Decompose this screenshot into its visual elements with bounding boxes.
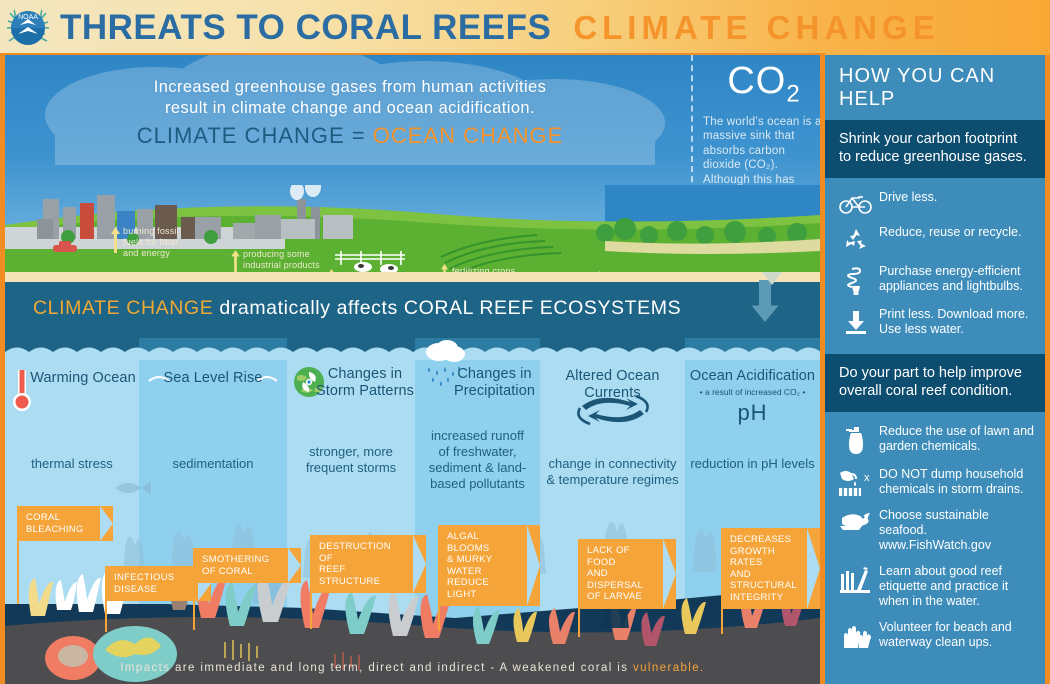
flag-label: ALGAL BLOOMS & MURKY WATER REDUCE LIGHT — [438, 525, 540, 606]
list-item-text: Choose sustainable seafood. www.FishWatc… — [877, 508, 1035, 553]
list-item-text: Drive less. — [877, 190, 937, 205]
ocean-section: Warming Ocean thermal stress Sea Level R… — [5, 338, 820, 684]
column-title-warming-ocean: Warming Ocean — [5, 370, 139, 387]
list-item-text: Reduce the use of lawn and garden chemic… — [877, 424, 1035, 454]
flag-label: CORAL BLEACHING — [17, 506, 113, 541]
flag-notch — [413, 535, 426, 593]
arrow-up-icon — [231, 250, 240, 274]
flag-notch — [807, 528, 820, 609]
ph-symbol: pH — [685, 400, 820, 426]
flag-label: SMOTHERING OF CORAL — [193, 548, 301, 583]
column-title-precipitation: Changes in Precipitation — [415, 366, 540, 400]
flag-smothering-of-coral: SMOTHERING OF CORAL — [193, 548, 301, 583]
noaa-logo: NOAA — [2, 3, 54, 53]
intro-line-2: result in climate change and ocean acidi… — [45, 98, 655, 119]
coral-reef-etiquette-icon — [835, 564, 877, 594]
co2-heading: CO2 — [703, 60, 820, 109]
co2-subscript: 2 — [786, 81, 800, 108]
flag-lack-of-food: LACK OF FOOD AND DISPERSAL OF LARVAE — [578, 539, 676, 609]
page-title: THREATS TO CORAL REEFS — [60, 8, 551, 48]
help-sidebar: HOW YOU CAN HELP Shrink your carbon foot… — [825, 55, 1045, 684]
sand-strip — [5, 272, 820, 282]
flag-pole — [17, 532, 19, 604]
midband-text: CLIMATE CHANGE dramatically affects CORA… — [33, 297, 681, 320]
source-label-0: burning fossil fuels for heat and energy — [123, 226, 179, 259]
list-item-text: Volunteer for beach and waterway clean u… — [877, 620, 1035, 650]
list-item[interactable]: Choose sustainable seafood. www.FishWatc… — [835, 508, 1035, 553]
list-item-text: DO NOT dump household chemicals in storm… — [877, 467, 1035, 497]
bicycle-icon — [835, 190, 877, 214]
flag-algal-blooms: ALGAL BLOOMS & MURKY WATER REDUCE LIGHT — [438, 525, 540, 606]
flag-notch — [100, 506, 113, 541]
flag-decreases-growth-rates: DECREASES GROWTH RATES AND STRUCTURAL IN… — [721, 528, 820, 609]
list-item[interactable]: Drive less. — [835, 190, 1035, 214]
arrow-down-icon — [745, 280, 785, 325]
arrow-up-icon — [111, 227, 120, 253]
no-dump-drain-icon: x — [835, 467, 877, 497]
list-item[interactable]: Reduce the use of lawn and garden chemic… — [835, 424, 1035, 456]
list-item[interactable]: Learn about good reef etiquette and prac… — [835, 564, 1035, 609]
page-header: NOAA THREATS TO CORAL REEFS CLIMATE CHAN… — [0, 0, 1050, 55]
infographic-page: NOAA THREATS TO CORAL REEFS CLIMATE CHAN… — [0, 0, 1050, 684]
list-item[interactable]: x DO NOT dump household chemicals in sto… — [835, 467, 1035, 497]
flag-destruction-of-reef-structure: DESTRUCTION OF REEF STRUCTURE — [310, 535, 426, 593]
midband: CLIMATE CHANGE dramatically affects CORA… — [5, 282, 820, 338]
intro-line-1: Increased greenhouse gases from human ac… — [45, 77, 655, 98]
list-item-text: Purchase energy-efficient appliances and… — [877, 264, 1035, 294]
flag-label: DESTRUCTION OF REEF STRUCTURE — [310, 535, 426, 593]
svg-text:NOAA: NOAA — [18, 14, 38, 21]
column-title-storm-patterns: Changes in Storm Patterns — [287, 366, 415, 400]
footer-highlight: vulnerable. — [633, 662, 705, 674]
sidebar-list-1: Drive less. Reduce, reuse or recycle. — [825, 178, 1045, 354]
list-item[interactable]: Reduce, reuse or recycle. — [835, 225, 1035, 253]
volunteer-hands-icon — [835, 620, 877, 650]
svg-text:x: x — [864, 472, 870, 484]
recycle-icon — [835, 225, 877, 253]
equation-right: OCEAN CHANGE — [373, 123, 563, 148]
left-border — [0, 55, 5, 684]
current-arrows-icon — [570, 390, 656, 432]
download-icon — [835, 307, 877, 335]
intro-text: Increased greenhouse gases from human ac… — [45, 77, 655, 119]
main-right-border — [820, 55, 825, 684]
fish-icon — [835, 508, 877, 532]
lightbulb-icon — [835, 264, 877, 296]
spray-bottle-icon — [835, 424, 877, 456]
ocean-footer-text: Impacts are immediate and long term, dir… — [5, 662, 820, 674]
page-right-border — [1045, 55, 1050, 684]
list-item-text: Learn about good reef etiquette and prac… — [877, 564, 1035, 609]
sidebar-title: HOW YOU CAN HELP — [825, 55, 1045, 120]
list-item[interactable]: Volunteer for beach and waterway clean u… — [835, 620, 1035, 650]
co2-label: CO — [727, 60, 786, 102]
list-item-text: Reduce, reuse or recycle. — [877, 225, 1021, 240]
equation-left: CLIMATE CHANGE = — [137, 123, 373, 148]
flag-label: DECREASES GROWTH RATES AND STRUCTURAL IN… — [721, 528, 820, 609]
flag-notch — [288, 548, 301, 583]
column-note-ocean-acidification: • a result of increased CO₂ • — [685, 387, 820, 397]
list-item[interactable]: Print less. Download more. Use less wate… — [835, 307, 1035, 337]
page-subtitle: CLIMATE CHANGE — [573, 9, 939, 47]
sidebar-callout-2: Do your part to help improve overall cor… — [825, 354, 1045, 412]
footer-main-text: Impacts are immediate and long term, dir… — [120, 662, 633, 674]
column-title-sea-level-rise: Sea Level Rise — [139, 370, 287, 387]
sidebar-callout-1: Shrink your carbon footprint to reduce g… — [825, 120, 1045, 178]
sidebar-list-2: Reduce the use of lawn and garden chemic… — [825, 412, 1045, 667]
flag-notch — [663, 539, 676, 609]
sky-panel: Increased greenhouse gases from human ac… — [5, 55, 820, 280]
water-surface — [5, 338, 820, 360]
list-item-text: Print less. Download more. Use less wate… — [877, 307, 1035, 337]
arrow-down-top-icon — [752, 272, 792, 286]
midband-rest: dramatically affects CORAL REEF ECOSYSTE… — [213, 297, 681, 319]
equation-line: CLIMATE CHANGE = OCEAN CHANGE — [45, 123, 655, 149]
column-title-ocean-acidification: Ocean Acidification — [685, 368, 820, 385]
midband-emphasis: CLIMATE CHANGE — [33, 297, 213, 319]
flag-label: LACK OF FOOD AND DISPERSAL OF LARVAE — [578, 539, 676, 609]
flag-notch — [527, 525, 540, 606]
flag-coral-bleaching: CORAL BLEACHING — [17, 506, 113, 541]
source-label-1: producing some industrial products — [243, 249, 320, 271]
list-item[interactable]: Purchase energy-efficient appliances and… — [835, 264, 1035, 296]
